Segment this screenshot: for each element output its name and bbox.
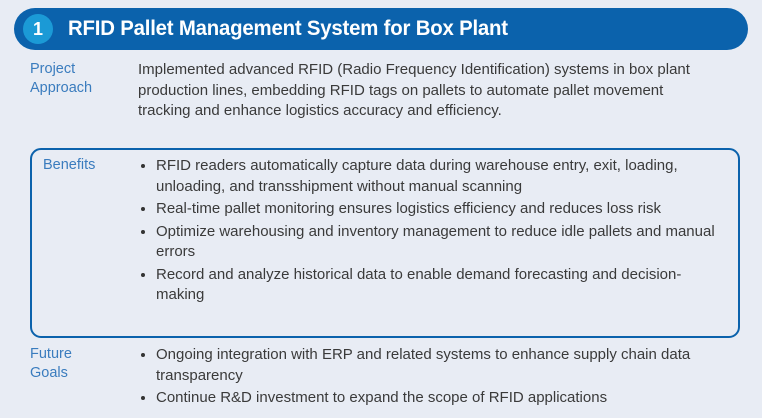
section-body-project-approach: Implemented advanced RFID (Radio Frequen… <box>138 60 750 122</box>
list-item: Optimize warehousing and inventory manag… <box>138 222 722 263</box>
slide-root: 1 RFID Pallet Management System for Box … <box>0 0 762 418</box>
header-badge-number: 1 <box>23 14 53 44</box>
section-future-goals: Future Goals Ongoing integration with ER… <box>30 345 750 411</box>
section-benefits: Benefits RFID readers automatically capt… <box>30 156 746 308</box>
list-item: Ongoing integration with ERP and related… <box>138 345 722 386</box>
section-project-approach: Project Approach Implemented advanced RF… <box>30 60 750 122</box>
page-title: RFID Pallet Management System for Box Pl… <box>68 17 508 41</box>
list-item: Record and analyze historical data to en… <box>138 265 722 306</box>
section-body-future-goals: Ongoing integration with ERP and related… <box>138 345 750 411</box>
list-item: Continue R&D investment to expand the sc… <box>138 388 722 409</box>
section-label-future-goals: Future Goals <box>30 345 138 411</box>
section-body-benefits: RFID readers automatically capture data … <box>138 156 746 308</box>
section-label-project-approach: Project Approach <box>30 60 138 122</box>
section-label-benefits: Benefits <box>30 156 138 308</box>
header-bar: 1 RFID Pallet Management System for Box … <box>14 8 748 50</box>
future-goals-bullet-list: Ongoing integration with ERP and related… <box>138 345 750 409</box>
list-item: Real-time pallet monitoring ensures logi… <box>138 199 722 220</box>
list-item: RFID readers automatically capture data … <box>138 156 722 197</box>
benefits-bullet-list: RFID readers automatically capture data … <box>138 156 746 306</box>
approach-paragraph: Implemented advanced RFID (Radio Frequen… <box>138 60 708 122</box>
